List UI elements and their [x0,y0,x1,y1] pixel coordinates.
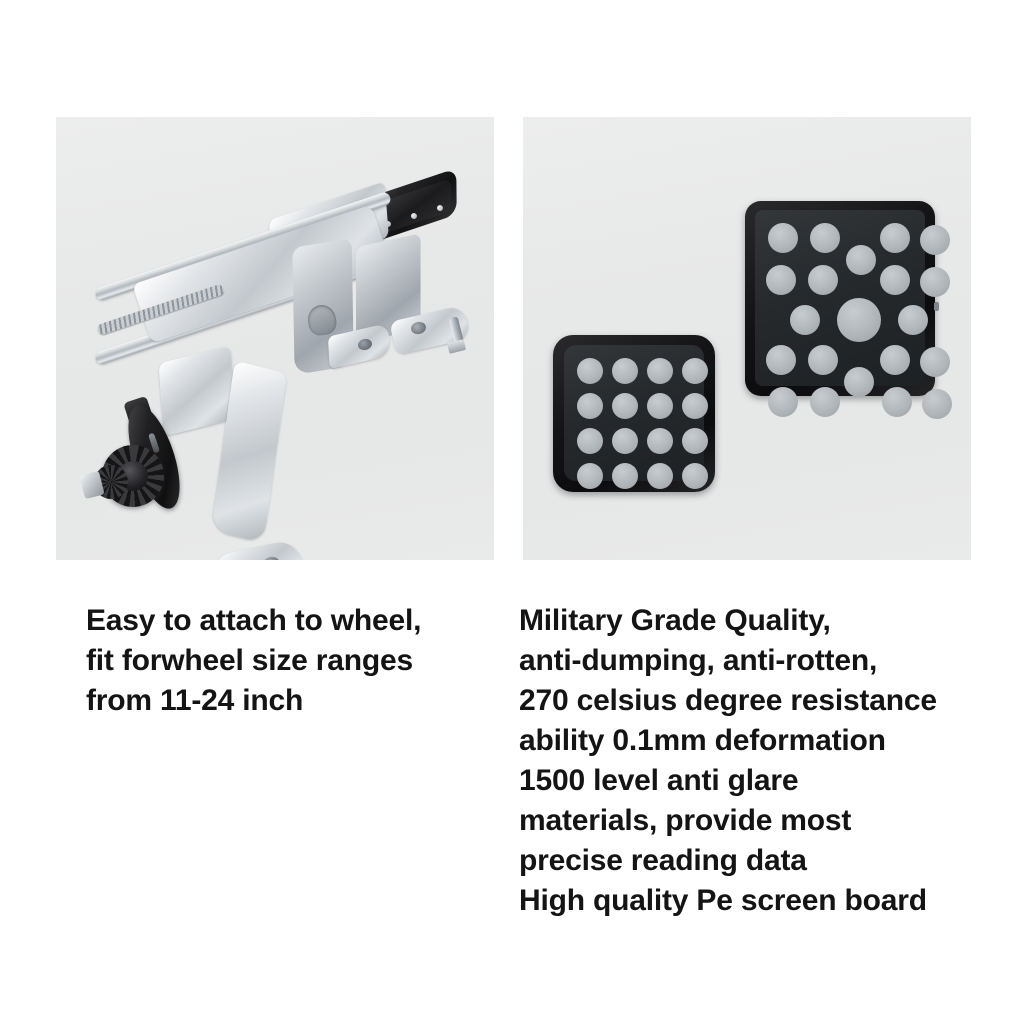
large-board-dot [846,245,876,275]
large-board-side-tab [934,302,939,311]
small-board-dot [647,358,673,384]
right-caption-line-6: materials, provide most [519,801,937,841]
large-board-dot [808,265,838,295]
small-board-dot [577,463,603,489]
large-board-dot [920,225,950,255]
small-board-dot [682,428,708,454]
large-board-dot [790,305,820,335]
left-caption-line-1: Easy to attach to wheel, [86,601,421,641]
small-board-dot [612,393,638,419]
left-caption-line-2: fit forwheel size ranges [86,641,421,681]
right-caption-line-4: ability 0.1mm deformation [519,721,937,761]
small-board-dot [577,428,603,454]
large-board-dot [766,345,796,375]
right-caption-line-3: 270 celsius degree resistance [519,681,937,721]
right-caption-line-7: precise reading data [519,841,937,881]
large-board-dot [920,267,950,297]
small-board-dot [612,428,638,454]
large-board-dot [766,265,796,295]
small-board-dot [647,428,673,454]
large-board-dot [837,298,881,342]
small-board-dot [647,393,673,419]
wheel-clamp-adapter-photo [56,117,494,560]
large-board-dot [810,223,840,253]
target-boards-illustration [523,117,971,560]
large-board-dot [898,305,928,335]
small-board-dot [612,463,638,489]
large-board-dot [880,223,910,253]
right-caption-line-8: High quality Pe screen board [519,881,937,921]
large-board-dot [922,389,952,419]
right-caption-line-2: anti-dumping, anti-rotten, [519,641,937,681]
large-board-dot [768,387,798,417]
large-board-dot [880,265,910,295]
small-board-dot [682,463,708,489]
small-board-dot [682,393,708,419]
calibration-target-boards-photo [523,117,971,560]
right-caption-line-1: Military Grade Quality, [519,601,937,641]
large-board-dot [882,387,912,417]
large-board-dot [808,345,838,375]
large-board-dot [810,387,840,417]
large-board-dot [844,367,874,397]
large-board-dot [880,345,910,375]
clamp-illustration [56,117,494,560]
left-clamp-jaw [159,346,236,437]
left-caption-line-3: from 11-24 inch [86,681,421,721]
small-board-dot [612,358,638,384]
right-caption-line-5: 1500 level anti glare [519,761,937,801]
right-caption-text: Military Grade Quality,anti-dumping, ant… [519,601,937,921]
large-board-dot [768,223,798,253]
left-caption-text: Easy to attach to wheel,fit forwheel siz… [86,601,421,721]
product-feature-page: Easy to attach to wheel,fit forwheel siz… [0,0,1024,1024]
right-stud-nut [447,339,466,354]
arm-mounting-foot [212,539,305,560]
small-board-dot [577,393,603,419]
small-board-dot [682,358,708,384]
small-board-dot [577,358,603,384]
small-board-dot [647,463,673,489]
large-board-dot [920,347,950,377]
